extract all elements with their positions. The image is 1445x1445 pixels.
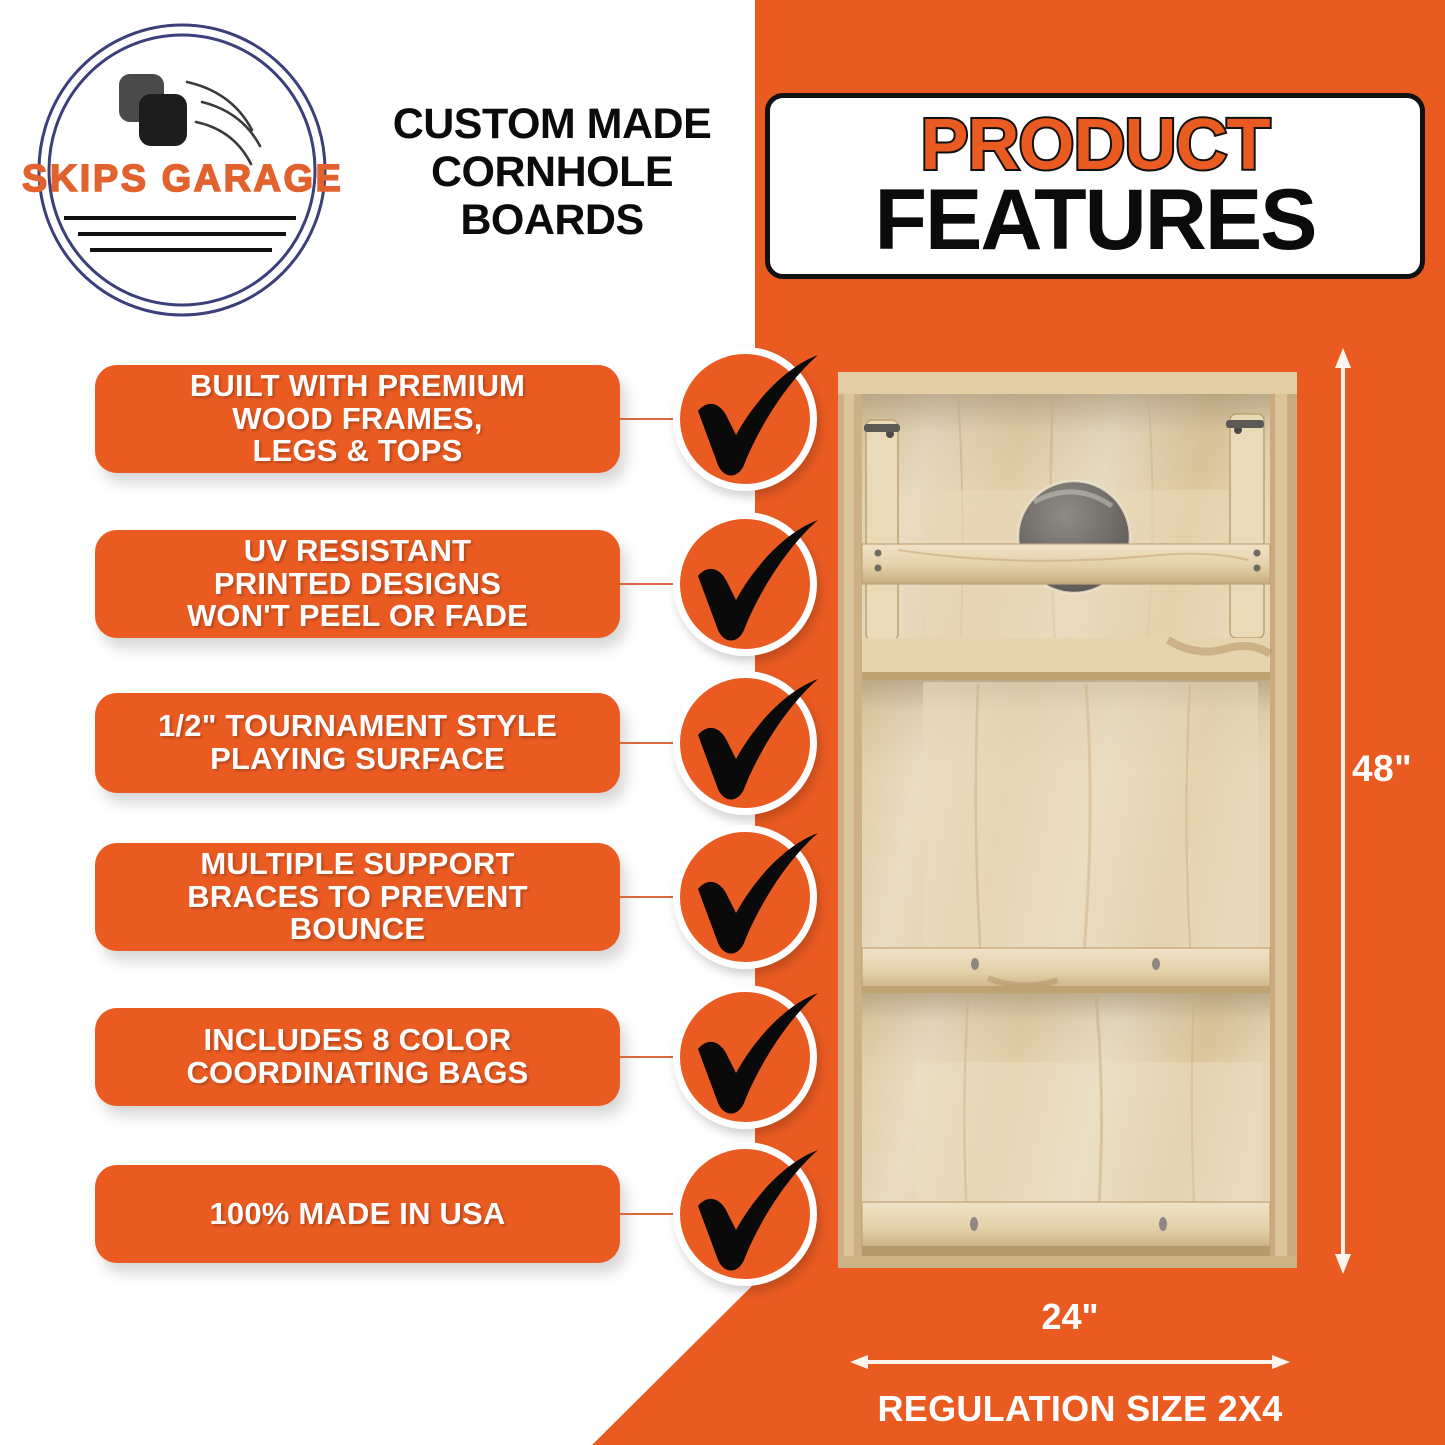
width-dimension-label: 24" (850, 1296, 1290, 1338)
feature-check-circle (673, 825, 817, 969)
logo-rule-1 (64, 216, 296, 220)
feature-pill: 100% MADE IN USA (95, 1165, 620, 1263)
height-dimension-label: 48" (1352, 748, 1412, 790)
page-title: CUSTOM MADE CORNHOLE BOARDS (352, 100, 752, 244)
headline-line-1: CUSTOM MADE (352, 100, 752, 148)
feature-label: UV RESISTANT PRINTED DESIGNS WON'T PEEL … (187, 535, 528, 634)
feature-row: INCLUDES 8 COLOR COORDINATING BAGS (0, 1008, 830, 1106)
bean-bag-front-icon (139, 94, 187, 146)
regulation-size-note: REGULATION SIZE 2X4 (820, 1388, 1340, 1430)
feature-row: MULTIPLE SUPPORT BRACES TO PREVENT BOUNC… (0, 843, 830, 951)
headline-line-3: BOARDS (352, 196, 752, 244)
feature-check-circle (673, 671, 817, 815)
feature-row: BUILT WITH PREMIUM WOOD FRAMES, LEGS & T… (0, 365, 830, 473)
badge-word-product: PRODUCT (921, 110, 1270, 181)
feature-check-circle (673, 1142, 817, 1286)
logo-wordmark: SKIPS GARAGE (22, 160, 342, 198)
logo-rule-3 (90, 248, 272, 252)
feature-row: 1/2" TOURNAMENT STYLE PLAYING SURFACE (0, 693, 830, 793)
product-photo (838, 372, 1297, 1268)
feature-pill: UV RESISTANT PRINTED DESIGNS WON'T PEEL … (95, 530, 620, 638)
feature-row: UV RESISTANT PRINTED DESIGNS WON'T PEEL … (0, 530, 830, 638)
width-dimension-arrow (850, 1352, 1290, 1372)
feature-label: 1/2" TOURNAMENT STYLE PLAYING SURFACE (158, 710, 557, 776)
feature-row: 100% MADE IN USA (0, 1165, 830, 1263)
feature-pill: INCLUDES 8 COLOR COORDINATING BAGS (95, 1008, 620, 1106)
product-features-badge: PRODUCT FEATURES (765, 93, 1425, 279)
feature-pill: BUILT WITH PREMIUM WOOD FRAMES, LEGS & T… (95, 365, 620, 473)
feature-pill: 1/2" TOURNAMENT STYLE PLAYING SURFACE (95, 693, 620, 793)
feature-check-circle (673, 512, 817, 656)
feature-label: 100% MADE IN USA (209, 1198, 505, 1231)
headline-line-2: CORNHOLE (352, 148, 752, 196)
logo-rule-2 (78, 232, 286, 236)
feature-label: BUILT WITH PREMIUM WOOD FRAMES, LEGS & T… (190, 370, 525, 469)
feature-check-circle (673, 347, 817, 491)
height-dimension-arrow (1331, 348, 1355, 1274)
feature-pill: MULTIPLE SUPPORT BRACES TO PREVENT BOUNC… (95, 843, 620, 951)
feature-label: INCLUDES 8 COLOR COORDINATING BAGS (186, 1024, 528, 1090)
infographic-page: SKIPS GARAGE CUSTOM MADE CORNHOLE BOARDS… (0, 0, 1445, 1445)
badge-word-features: FEATURES (874, 178, 1315, 262)
feature-check-circle (673, 985, 817, 1129)
feature-label: MULTIPLE SUPPORT BRACES TO PREVENT BOUNC… (187, 848, 527, 947)
brand-logo: SKIPS GARAGE (22, 20, 342, 320)
